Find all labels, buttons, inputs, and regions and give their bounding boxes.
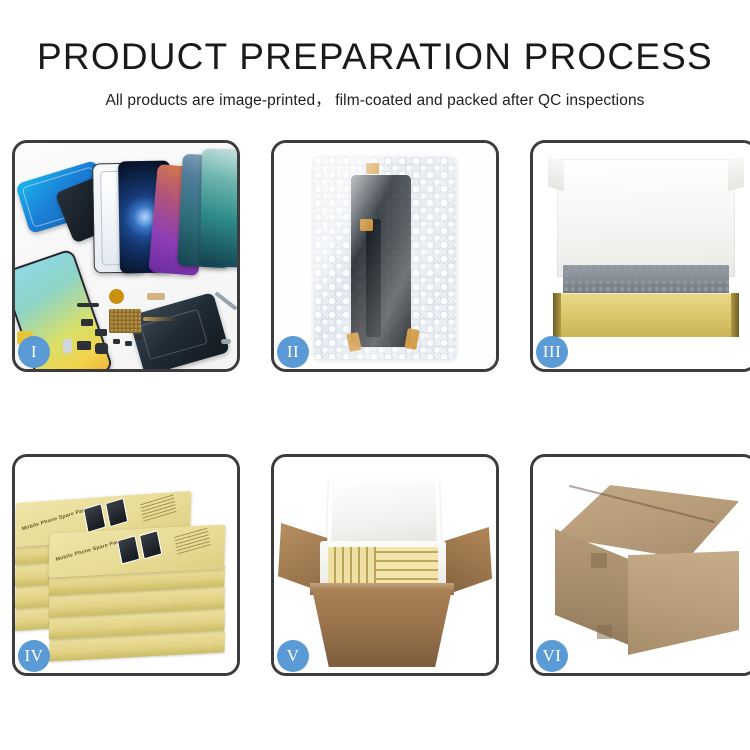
bracket-part-icon: [81, 319, 93, 326]
step-1-illustration: [15, 143, 237, 369]
step-5-illustration: [274, 457, 496, 673]
product-photo-swatch-icon: [139, 530, 162, 559]
flex-cable-part-icon: [143, 317, 177, 321]
tweezers-tool-icon: [215, 291, 237, 310]
process-step-card-2[interactable]: II: [271, 140, 499, 372]
carton-tape-lower-icon: [597, 625, 612, 639]
stacked-box-top-labelled: Mobile Phone Spare Parts: [48, 524, 225, 577]
process-step-card-1[interactable]: I: [12, 140, 240, 372]
step-badge-3: III: [536, 336, 568, 368]
box-label-text: Mobile Phone Spare Parts: [55, 538, 124, 563]
carton-front-face-icon: [628, 551, 739, 655]
page-subtitle: All products are image-printed， film-coa…: [0, 88, 750, 110]
screwdriver-tip-icon: [221, 339, 231, 344]
product-photo-swatch-icon: [83, 503, 106, 533]
spec-text-lines: [140, 492, 177, 521]
process-step-card-4[interactable]: Mobile Phone Spare Parts Mobile Phone Sp…: [12, 454, 240, 676]
shield-plate-part-icon: [95, 329, 107, 336]
step-4-illustration: Mobile Phone Spare Parts Mobile Phone Sp…: [15, 457, 237, 673]
process-step-grid: I II III: [12, 140, 738, 680]
step-2-illustration: [274, 143, 496, 369]
product-photo-swatch-icon: [105, 498, 128, 528]
taptic-part-icon: [95, 343, 108, 354]
step-badge-5: V: [277, 640, 309, 672]
yellow-box-tray-icon: [553, 293, 739, 337]
spec-text-lines: [174, 526, 211, 555]
connector-part-icon: [125, 341, 132, 346]
carton-tape-upper-icon: [591, 553, 607, 568]
step-6-illustration: [533, 457, 750, 673]
screw-part-icon: [113, 339, 120, 344]
step-3-illustration: [533, 143, 750, 369]
speaker-coil-part-icon: [109, 289, 124, 304]
sim-tray-part-icon: [63, 339, 72, 353]
product-photo-swatch-icon: [117, 535, 140, 564]
phone-back-housing-icon: [128, 292, 230, 369]
camera-ring-part-icon: [135, 335, 142, 340]
vibrator-part-icon: [77, 341, 91, 350]
bubble-wrap-package-icon: [314, 157, 456, 359]
page-header: PRODUCT PREPARATION PROCESS All products…: [0, 0, 750, 110]
step-badge-4: IV: [18, 640, 50, 672]
step-badge-6: VI: [536, 640, 568, 672]
styrofoam-lid-icon: [327, 478, 441, 548]
carton-body-icon: [312, 589, 452, 667]
process-step-card-3[interactable]: III: [530, 140, 750, 372]
yellow-boxes-inside-icon: [328, 547, 438, 587]
tan-flex-part-icon: [147, 293, 165, 300]
process-step-card-6[interactable]: VI: [530, 454, 750, 676]
page-title: PRODUCT PREPARATION PROCESS: [0, 38, 750, 75]
process-step-card-5[interactable]: V: [271, 454, 499, 676]
green-gradient-phone-icon: [200, 149, 237, 268]
logic-board-part-icon: [109, 309, 141, 333]
box-label-text: Mobile Phone Spare Parts: [21, 506, 90, 532]
step-badge-1: I: [18, 336, 50, 368]
step-badge-2: II: [277, 336, 309, 368]
plastic-sheen-overlay: [314, 157, 456, 359]
antenna-strip-part-icon: [77, 303, 99, 307]
box-lid-open-icon: [557, 159, 735, 277]
